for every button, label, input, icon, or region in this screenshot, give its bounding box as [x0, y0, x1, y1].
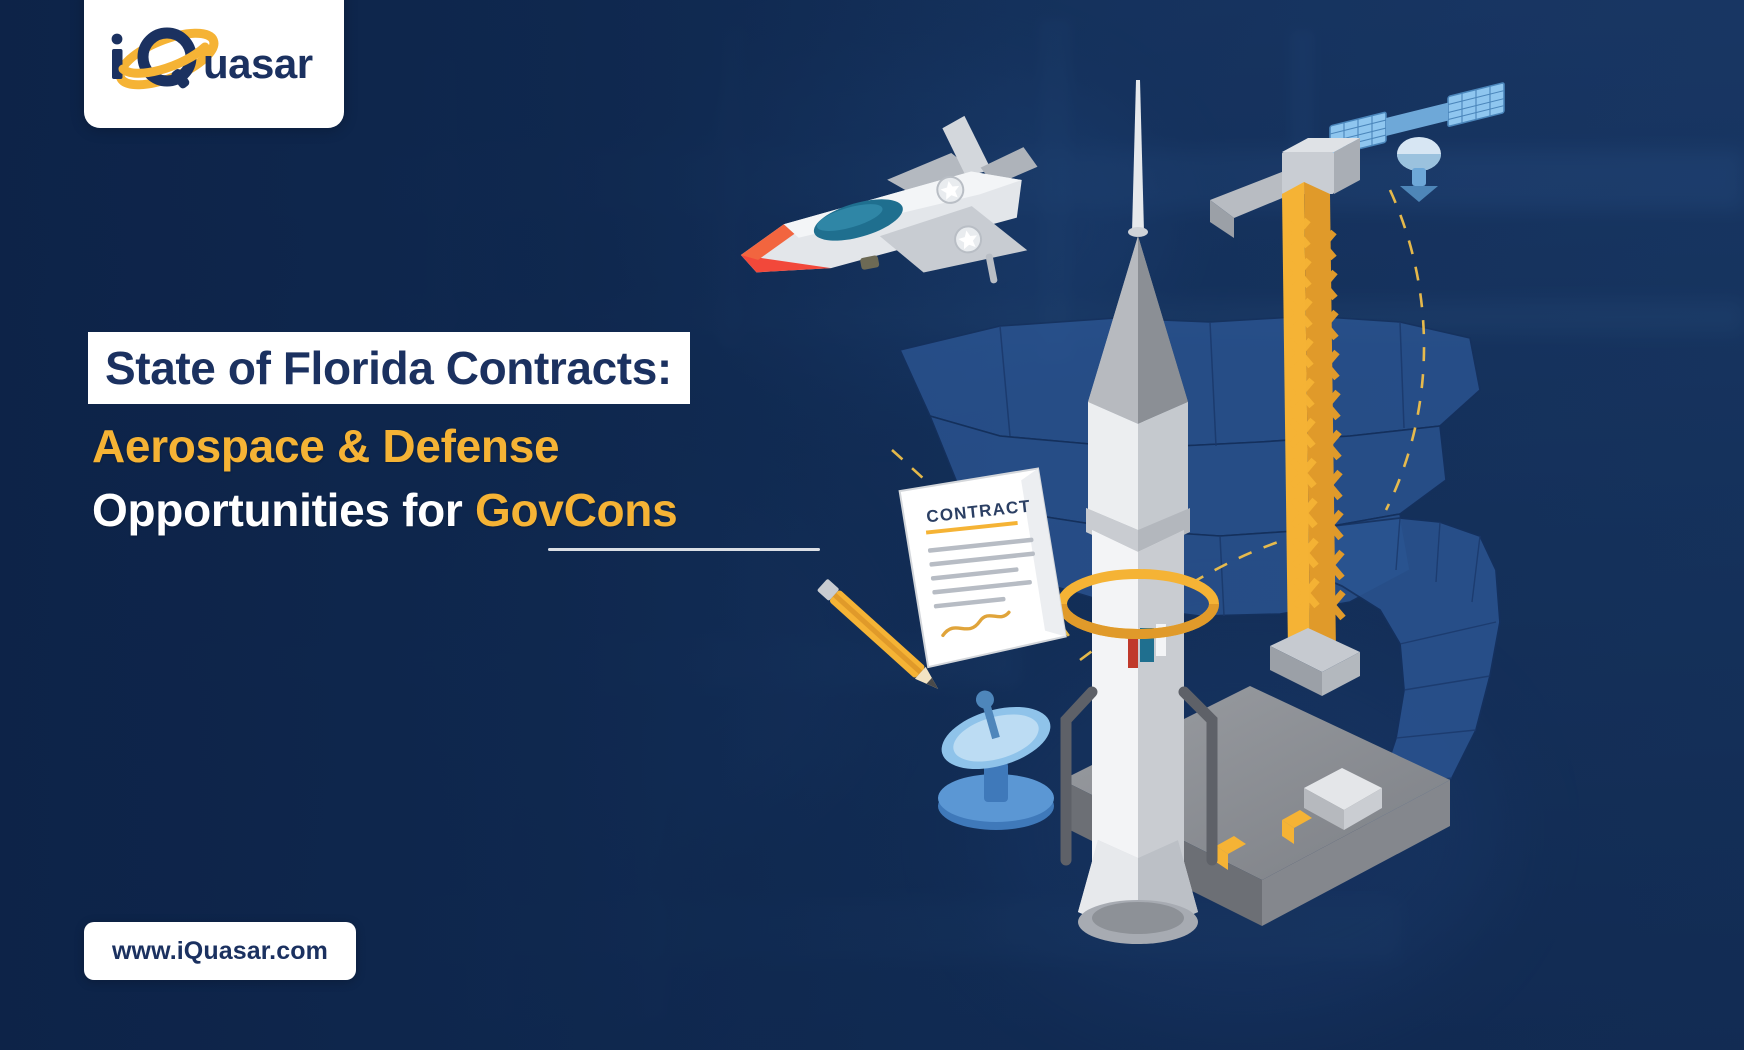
- headline-line-2: Aerospace & Defense: [88, 422, 848, 470]
- headline-line-3: Opportunities for GovCons: [88, 486, 848, 534]
- website-url-text: www.iQuasar.com: [112, 937, 328, 966]
- launch-tower: [1210, 138, 1360, 696]
- satellite-dish-icon: [929, 675, 1058, 830]
- headline-underline: [548, 548, 820, 551]
- logo: uasar i Quasar: [101, 19, 327, 95]
- svg-text:uasar: uasar: [203, 40, 313, 87]
- headline-line-3-white: Opportunities for: [92, 484, 475, 536]
- headline-block: State of Florida Contracts: Aerospace & …: [88, 332, 848, 535]
- illustration: CONTRACT CO: [830, 80, 1744, 1050]
- logo-card[interactable]: uasar i Quasar: [84, 0, 344, 128]
- website-badge[interactable]: www.iQuasar.com: [84, 922, 356, 980]
- contract-document: CONTRACT: [807, 467, 1071, 705]
- marketing-banner: uasar i Quasar State of Florida Contract…: [0, 0, 1744, 1050]
- headline-line-3-accent: GovCons: [475, 484, 677, 536]
- headline-line-1: State of Florida Contracts:: [88, 332, 690, 404]
